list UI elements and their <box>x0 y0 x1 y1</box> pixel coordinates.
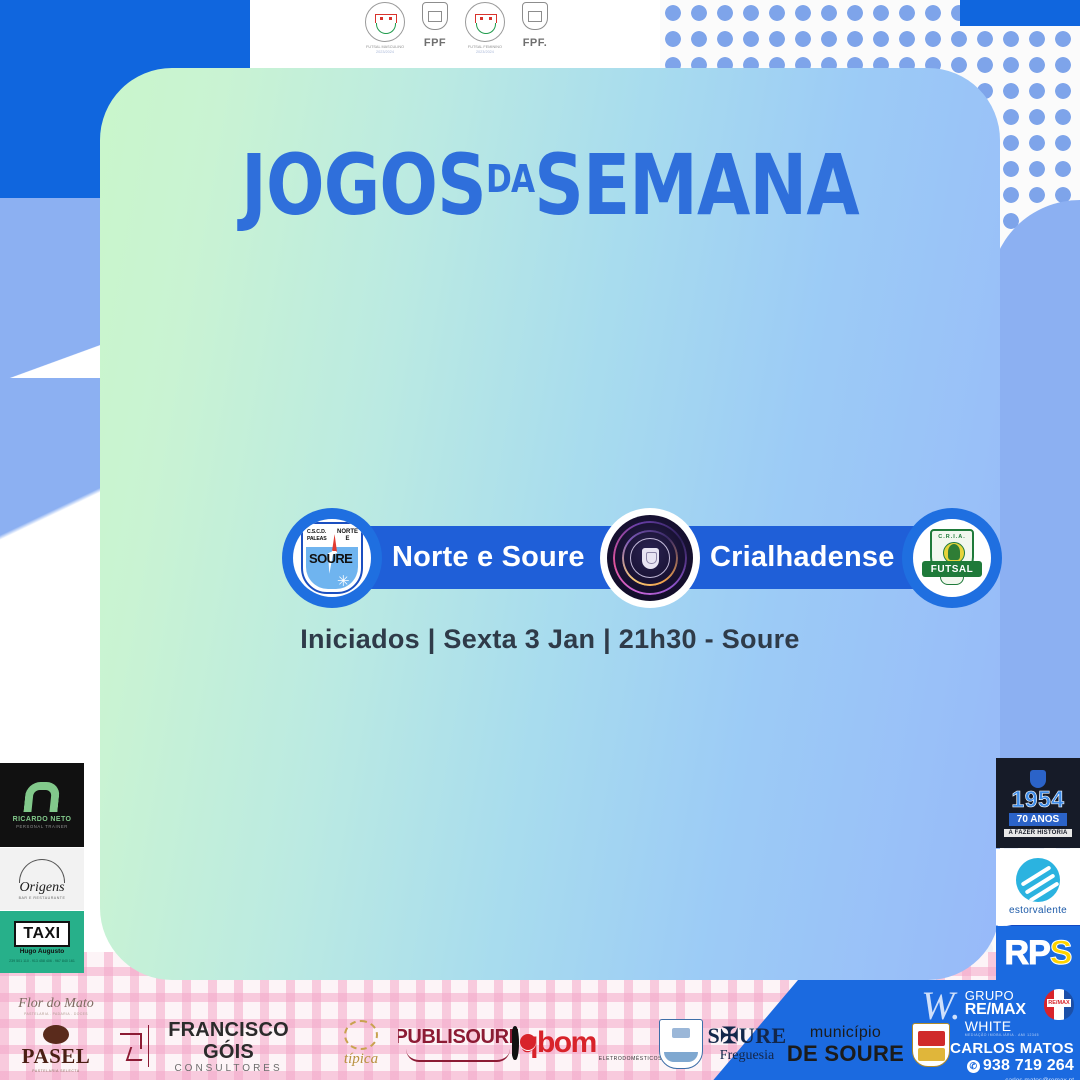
municipio-title-small: município <box>787 1024 904 1042</box>
divider <box>148 1025 150 1067</box>
title-da: DA <box>486 157 534 201</box>
sponsor-rps[interactable]: RPS <box>996 926 1080 980</box>
federation-logo-fpf-2: FPF. <box>510 2 560 49</box>
remax-balloon-icon: RE/MAX <box>1044 989 1074 1029</box>
francisco-gois-subtitle: CONSULTORES <box>159 1063 298 1074</box>
taxi-phone: 239 501 110 . 913 458 406 . 967 840 161 <box>9 959 75 963</box>
sponsor-tipica[interactable]: típica <box>322 1008 400 1080</box>
away-team-name: Crialhadense <box>710 526 895 589</box>
remax-phone-number: 938 719 264 <box>983 1057 1074 1075</box>
sponsor-publisoure[interactable]: PUBLISOURE <box>398 1018 518 1070</box>
publisoure-title: PUBLISOURE <box>398 1026 518 1049</box>
fpf-label: FPF <box>424 37 446 49</box>
crest-cscd-line2: PALEAS <box>307 536 326 543</box>
anniversary-badge: 70 ANOS <box>1009 813 1067 826</box>
remax-agent-name: CARLOS MATOS <box>950 1040 1074 1057</box>
crest-cscd-line1: C.S.C.D. <box>307 529 326 536</box>
flor-do-mato-title: Flor do Mato <box>18 996 93 1012</box>
crest-futsal-banner: FUTSAL <box>922 561 982 577</box>
francisco-gois-title: FRANCISCO GÓIS <box>159 1019 298 1063</box>
title-semana: SEMANA <box>534 136 859 234</box>
ricardo-neto-subtitle: PERSONAL TRAINER <box>16 824 68 829</box>
crest-cria-initials: C.R.I.A. <box>932 534 972 540</box>
sponsor-origens[interactable]: Origens BAR E RESTAURANTE <box>0 848 84 910</box>
fpf-shield-icon-2 <box>522 2 548 36</box>
tipica-title: típica <box>344 1051 378 1068</box>
badge-crest-icon <box>642 548 659 569</box>
federation-logo-futsal-masculino: FUTSAL MASCULINO 2023/2024 <box>360 2 410 54</box>
rps-s: S <box>1050 934 1072 972</box>
match-row[interactable]: Norte e Soure Crialhadense C.S.C.D. PALE… <box>282 508 1002 608</box>
freguesia-subtitle: Freguesia <box>707 1048 786 1063</box>
af-coimbra-badge-icon-2 <box>465 2 505 42</box>
federation-logo-strip: FUTSAL MASCULINO 2023/2024 FPF FUTSAL FE… <box>360 2 560 68</box>
sponsor-estorvalente[interactable]: estorvalente <box>996 849 1080 925</box>
taxi-subtitle: Hugo Augusto <box>20 948 65 955</box>
club-shield-icon <box>1030 770 1046 788</box>
federation-logo-futsal-feminino: FUTSAL FEMININO 2023/2024 <box>460 2 510 54</box>
crest-norte: NORTE <box>337 529 358 536</box>
remax-brand: RE/MAX <box>965 1002 1039 1018</box>
title-jogos: JOGOS <box>241 136 486 234</box>
fpf-label-2: FPF. <box>523 37 548 49</box>
ricardo-neto-mark-icon <box>23 782 60 812</box>
pasel-subtitle: PASTELARIA SELECTA <box>32 1069 79 1073</box>
star-icon: ✳ <box>337 574 350 589</box>
crest-soure: SOURE <box>309 551 352 566</box>
home-team-logo[interactable]: C.S.C.D. PALEAS NORTE E SOURE ✳ <box>282 508 382 608</box>
remax-sub: MEDIAÇÃO IMOBILIÁRIA . AMI 12345 <box>965 1034 1039 1037</box>
match-details: Iniciados | Sexta 3 Jan | 21h30 - Soure <box>100 624 1000 655</box>
right-blue-panel <box>990 200 1080 760</box>
competition-badge <box>600 508 700 608</box>
crest-e: E <box>337 536 358 543</box>
pasel-bread-icon <box>43 1025 69 1044</box>
remax-white-label: WHITE <box>965 1019 1039 1033</box>
freguesia-crest-icon <box>659 1019 703 1069</box>
estorvalente-disc-icon <box>1016 858 1060 902</box>
remax-phone[interactable]: ✆ 938 719 264 <box>967 1057 1074 1075</box>
federation-caption-2: FUTSAL FEMININO 2023/2024 <box>468 44 502 54</box>
francisco-gois-mark-icon <box>118 1029 142 1063</box>
rps-rp: RP <box>1005 934 1050 972</box>
home-team-name: Norte e Soure <box>392 526 585 589</box>
tree-icon <box>948 544 960 560</box>
taxi-title: TAXI <box>14 921 69 947</box>
top-right-blue-corner <box>960 0 1080 26</box>
sponsor-qbom[interactable]: qbom ELETRODOMÉSTICOS <box>512 1016 662 1070</box>
fpf-shield-icon <box>422 2 448 36</box>
freguesia-title: S✠URE <box>707 1024 786 1048</box>
match-announcement-poster: FUTSAL MASCULINO 2023/2024 FPF FUTSAL FE… <box>0 0 1080 1080</box>
main-content-card: JOGOSDASEMANA Norte e Soure Crialhadense… <box>100 68 1000 980</box>
rps-title: RPS <box>1005 934 1072 973</box>
origens-title: Origens <box>19 880 64 896</box>
origens-subtitle: BAR E RESTAURANTE <box>19 896 66 900</box>
pasel-title: PASEL <box>22 1044 91 1069</box>
sponsor-flor-do-mato[interactable]: Flor do Mato PASTELARIA . PADARIA . DOCE… <box>4 986 108 1026</box>
estorvalente-title: estorvalente <box>1009 905 1067 916</box>
page-title: JOGOSDASEMANA <box>181 143 919 227</box>
municipio-title-big: DE SOURE <box>787 1042 904 1066</box>
federation-caption: FUTSAL MASCULINO 2023/2024 <box>366 44 404 54</box>
away-team-logo[interactable]: C.R.I.A. FUTSAL <box>902 508 1002 608</box>
sponsor-remax-white[interactable]: W. GRUPO RE/MAX WHITE MEDIAÇÃO IMOBILIÁR… <box>920 985 1080 1080</box>
norte-e-soure-crest-icon: C.S.C.D. PALEAS NORTE E SOURE ✳ <box>301 522 363 594</box>
remax-grupo: GRUPO <box>965 989 1039 1002</box>
sponsor-taxi-hugo-augusto[interactable]: TAXI Hugo Augusto 239 501 110 . 913 458 … <box>0 911 84 973</box>
phone-icon: ✆ <box>967 1060 980 1073</box>
remax-balloon-label: RE/MAX <box>1047 999 1071 1007</box>
remax-w-monogram-icon: W. <box>921 989 961 1023</box>
sponsor-francisco-gois[interactable]: FRANCISCO GÓIS CONSULTORES <box>118 1016 298 1076</box>
sponsor-ricardo-neto[interactable]: RICARDO NETO PERSONAL TRAINER <box>0 763 84 847</box>
anniversary-year: 1954 <box>1011 788 1064 811</box>
sponsor-70-anos[interactable]: 1954 70 ANOS A FAZER HISTÓRIA <box>996 758 1080 848</box>
anniversary-tagline: A FAZER HISTÓRIA <box>1004 829 1073 837</box>
ricardo-neto-title: RICARDO NETO <box>13 816 72 823</box>
flor-do-mato-subtitle: PASTELARIA . PADARIA . DOCES <box>24 1012 88 1016</box>
publisoure-arc-icon <box>406 1049 510 1062</box>
tipica-wreath-icon <box>344 1020 378 1050</box>
crialhadense-crest-icon: C.R.I.A. FUTSAL <box>922 527 982 589</box>
sponsor-pasel[interactable]: PASEL PASTELARIA SELECTA <box>8 1022 104 1076</box>
sponsor-soure-freguesia[interactable]: S✠URE Freguesia <box>650 1012 796 1076</box>
federation-logo-fpf-1: FPF <box>410 2 460 49</box>
af-coimbra-badge-icon <box>365 2 405 42</box>
